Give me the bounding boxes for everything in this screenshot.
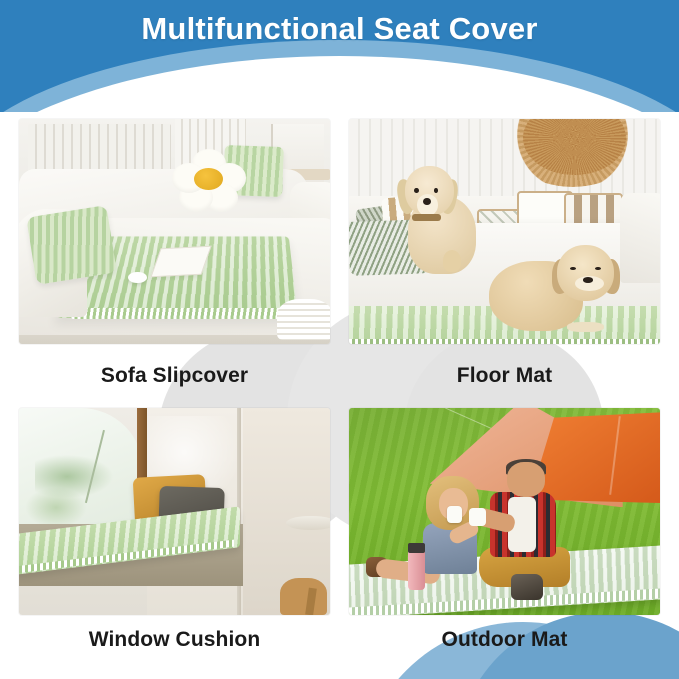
- dog-head: [557, 245, 614, 301]
- product-image-sofa-slipcover: [19, 119, 330, 344]
- dog-nose: [583, 277, 593, 282]
- caption-floor-mat: Floor Mat: [349, 364, 660, 388]
- floor-basket-prop: [277, 299, 330, 340]
- round-side-table: [286, 516, 330, 530]
- caption-window-cushion: Window Cushion: [19, 615, 330, 664]
- foliage-outside-b: [25, 487, 87, 528]
- person-man: [486, 462, 592, 599]
- water-bottle-cap: [408, 543, 425, 553]
- dog-paw: [567, 322, 604, 332]
- caption-sofa-slipcover: Sofa Slipcover: [19, 364, 330, 388]
- product-infographic: Multifunctional Seat Cover: [0, 0, 679, 679]
- dog-nose: [423, 198, 431, 206]
- man-boot: [511, 574, 543, 600]
- product-grid: Sofa Slipcover Floor Mat: [19, 119, 660, 664]
- dog-sitting: [399, 166, 480, 274]
- caption-outdoor-mat: Outdoor Mat: [349, 615, 660, 664]
- dog-lying: [489, 245, 620, 335]
- product-image-floor-mat: [349, 119, 660, 344]
- floor-mat-fringe-edge: [349, 339, 660, 344]
- pink-water-bottle: [408, 549, 425, 590]
- daisy-flower-pillow: [175, 151, 243, 210]
- floormat-sofa-arm-right: [620, 193, 660, 283]
- wooden-stool: [280, 578, 327, 615]
- product-image-outdoor-mat: [349, 408, 660, 615]
- man-mug: [469, 508, 486, 526]
- dog-collar: [412, 214, 441, 222]
- page-title: Multifunctional Seat Cover: [0, 11, 679, 47]
- seat-cover-fringe-edge: [71, 308, 284, 319]
- product-image-window-cushion: [19, 408, 330, 615]
- woman-mug: [447, 506, 462, 522]
- man-face: [507, 462, 545, 498]
- green-striped-pillow-left: [27, 205, 117, 284]
- white-cup-prop: [128, 272, 147, 283]
- dog-paw: [443, 250, 461, 272]
